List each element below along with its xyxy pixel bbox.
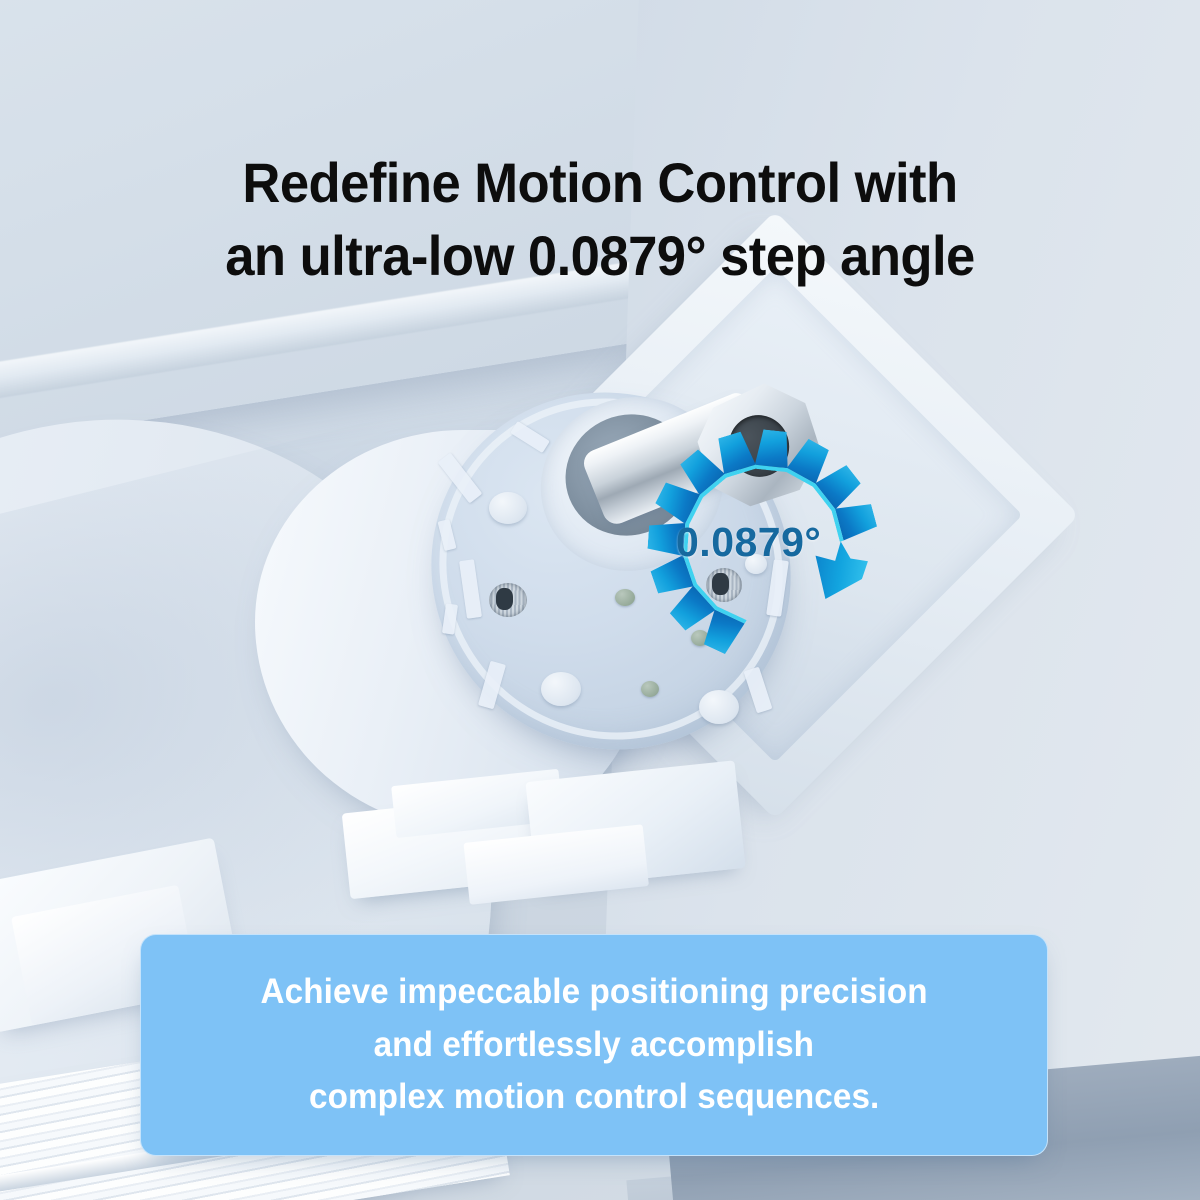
dial-segment: [754, 429, 792, 472]
faceplate-boss: [541, 672, 581, 706]
page-title-line-2: an ultra-low 0.0879° step angle: [36, 219, 1164, 292]
caption-line-1: Achieve impeccable positioning precision: [260, 970, 927, 1015]
caption-line-3: complex motion control sequences.: [309, 1075, 879, 1120]
faceplate-screw-hole: [489, 583, 527, 617]
faceplate-boss: [699, 690, 739, 724]
faceplate-screw-hole: [706, 568, 742, 602]
faceplate-boss: [489, 492, 527, 524]
faceplate-dot: [641, 681, 659, 697]
step-angle-callout: 0.0879°: [676, 519, 821, 566]
page-title: Redefine Motion Control with an ultra-lo…: [36, 146, 1164, 293]
caption-box: Achieve impeccable positioning precision…: [140, 934, 1048, 1156]
caption-line-2: and effortlessly accomplish: [374, 1023, 815, 1068]
faceplate-dot: [615, 589, 635, 606]
product-banner: 0.0879° Redefine Motion Control with an …: [0, 0, 1200, 1200]
page-title-line-1: Redefine Motion Control with: [242, 151, 957, 214]
